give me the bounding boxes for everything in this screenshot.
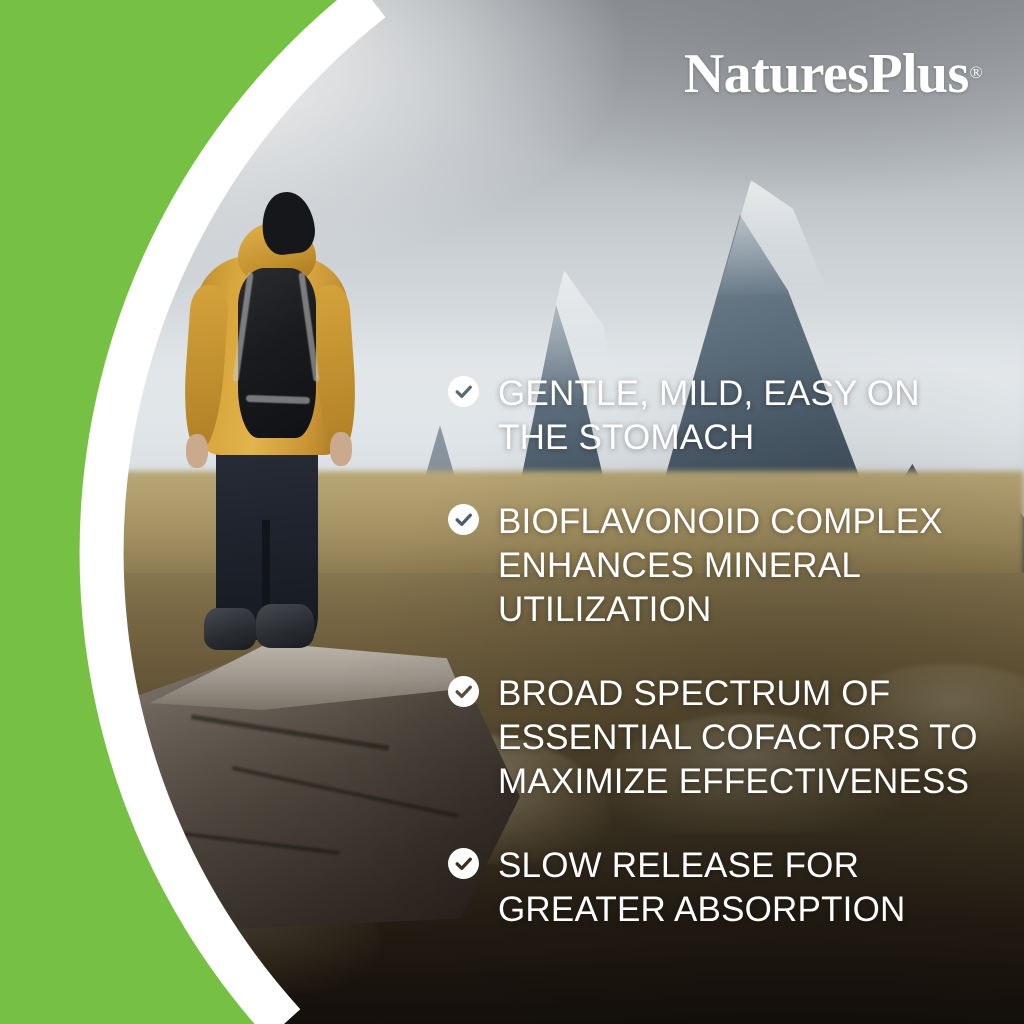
benefit-item: BIOFLAVONOID COMPLEX ENHANCES MINERAL UT… [448,500,988,632]
benefit-text: BROAD SPECTRUM OF ESSENTIAL COFACTORS TO… [498,672,978,804]
benefit-item: BROAD SPECTRUM OF ESSENTIAL COFACTORS TO… [448,672,988,804]
check-circle-icon [448,376,479,407]
registered-trademark-icon: ® [970,63,982,82]
product-benefits-banner: NaturesPlus® GENTLE, MILD, EASY ON THE S… [0,0,1024,1024]
benefit-item: GENTLE, MILD, EASY ON THE STOMACH [448,372,988,460]
benefit-item: SLOW RELEASE FOR GREATER ABSORPTION [448,844,988,932]
brand-logo: NaturesPlus® [684,46,982,102]
benefit-text: GENTLE, MILD, EASY ON THE STOMACH [498,372,920,460]
check-circle-icon [448,676,479,707]
benefit-text: BIOFLAVONOID COMPLEX ENHANCES MINERAL UT… [498,500,943,632]
check-circle-icon [448,504,479,535]
benefit-text: SLOW RELEASE FOR GREATER ABSORPTION [498,844,905,932]
benefits-list: GENTLE, MILD, EASY ON THE STOMACH BIOFLA… [448,372,988,932]
brand-logo-text: NaturesPlus [684,43,969,105]
check-circle-icon [448,848,479,879]
